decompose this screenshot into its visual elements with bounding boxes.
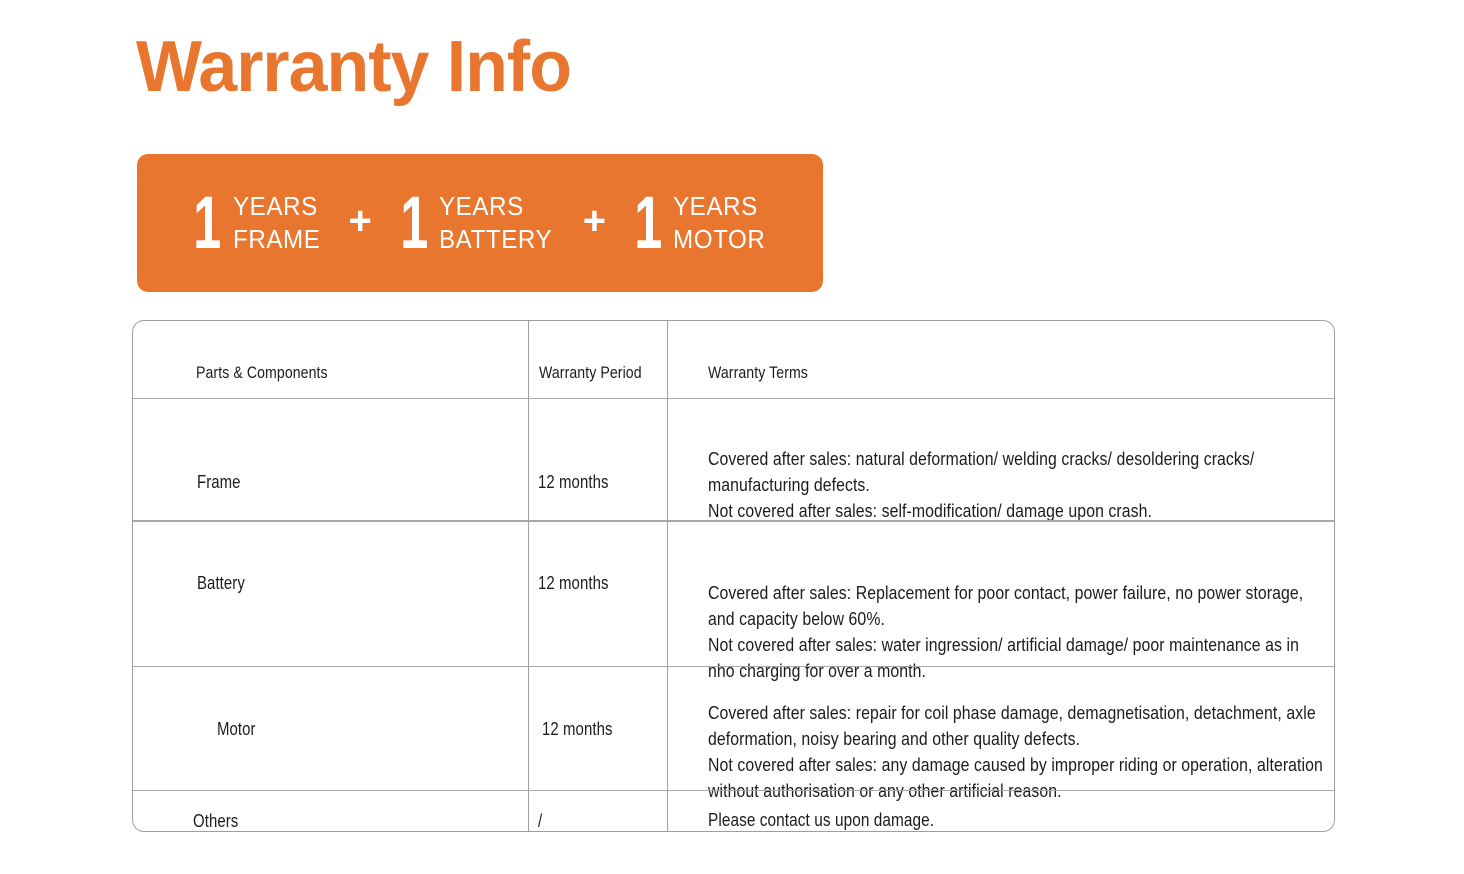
badge-text: YEARS BATTERY (439, 190, 552, 257)
table-cell-part: Others (133, 791, 529, 831)
warranty-terms: Covered after sales: natural deformation… (708, 446, 1307, 524)
table-header-cell-parts: Parts & Components (133, 321, 529, 398)
warranty-badge-motor: 1 YEARS MOTOR (628, 190, 772, 257)
table-cell-period: 12 months (529, 667, 668, 790)
badge-component: FRAME (233, 223, 320, 256)
table-cell-terms: Covered after sales: natural deformation… (668, 399, 1334, 520)
plus-separator-icon: + (327, 201, 394, 245)
table-cell-terms: Covered after sales: repair for coil pha… (668, 667, 1334, 790)
warranty-table: Parts & Components Warranty Period Warra… (132, 320, 1335, 832)
table-row: Motor 12 months Covered after sales: rep… (133, 666, 1334, 790)
table-row: Others / Please contact us upon damage. (133, 790, 1334, 831)
badge-text: YEARS FRAME (233, 190, 320, 257)
warranty-badge-frame: 1 YEARS FRAME (187, 190, 326, 257)
column-header-parts: Parts & Components (196, 364, 328, 381)
warranty-period: 12 months (542, 720, 613, 738)
warranty-period: / (538, 812, 542, 830)
warranty-period: 12 months (538, 473, 609, 491)
badge-text: YEARS MOTOR (673, 190, 765, 257)
part-name: Others (193, 812, 238, 830)
warranty-period: 12 months (538, 574, 609, 592)
page-title: Warranty Info (136, 31, 571, 103)
table-header-cell-terms: Warranty Terms (668, 321, 1334, 398)
warranty-badge-battery: 1 YEARS BATTERY (394, 190, 561, 257)
table-cell-period: / (529, 791, 668, 831)
part-name: Frame (197, 473, 241, 491)
column-header-terms: Warranty Terms (708, 364, 808, 381)
table-cell-part: Frame (133, 399, 529, 520)
table-header-row: Parts & Components Warranty Period Warra… (133, 321, 1334, 398)
badge-component: BATTERY (439, 223, 552, 256)
warranty-summary-banner: 1 YEARS FRAME + 1 YEARS BATTERY + 1 YEAR… (137, 154, 823, 292)
table-cell-terms: Covered after sales: Replacement for poo… (668, 522, 1334, 666)
table-cell-part: Motor (133, 667, 529, 790)
badge-number: 1 (634, 193, 661, 254)
table-row: Battery 12 months Covered after sales: R… (133, 520, 1334, 666)
table-cell-period: 12 months (529, 522, 668, 666)
column-header-period: Warranty Period (539, 364, 642, 381)
warranty-info-page: Warranty Info 1 YEARS FRAME + 1 YEARS BA… (0, 0, 1464, 874)
badge-unit: YEARS (673, 190, 765, 223)
table-cell-terms: Please contact us upon damage. (668, 791, 1334, 831)
table-header-cell-period: Warranty Period (529, 321, 668, 398)
warranty-terms: Covered after sales: repair for coil pha… (708, 700, 1324, 804)
badge-unit: YEARS (439, 190, 552, 223)
table-row: Frame 12 months Covered after sales: nat… (133, 398, 1334, 520)
badge-number: 1 (194, 193, 221, 254)
table-cell-part: Battery (133, 522, 529, 666)
badge-component: MOTOR (673, 223, 765, 256)
badge-number: 1 (400, 193, 427, 254)
table-cell-period: 12 months (529, 399, 668, 520)
badge-unit: YEARS (233, 190, 320, 223)
part-name: Battery (197, 574, 245, 592)
warranty-terms: Please contact us upon damage. (708, 811, 934, 830)
plus-separator-icon: + (561, 201, 628, 245)
part-name: Motor (217, 720, 256, 738)
